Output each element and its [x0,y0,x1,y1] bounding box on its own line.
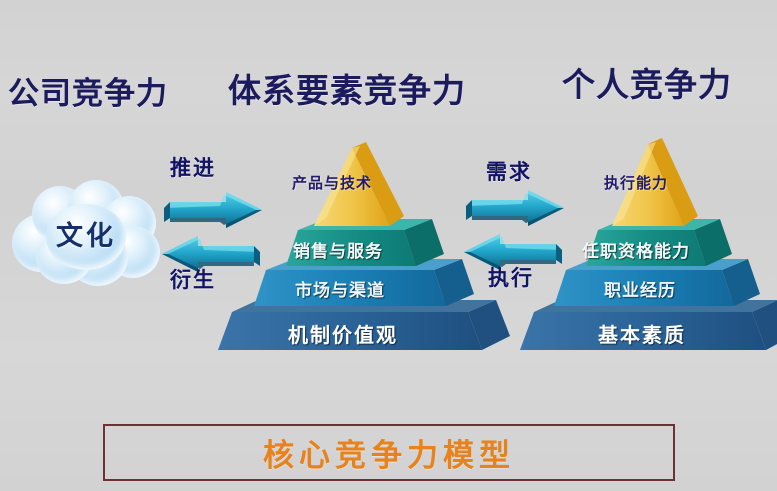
culture-cloud: 文化 [6,178,166,288]
banner-title: 核心竞争力模型 [263,430,515,475]
culture-label: 文化 [6,178,166,288]
pyramid-system-competitiveness: 产品与技术 销售与服务 市场与渠道 机制价值观 [210,140,510,365]
heading-personal-competitiveness: 个人竞争力 [562,58,732,106]
diagram-canvas: 公司竞争力 体系要素竞争力 个人竞争力 文化 [0,0,777,491]
core-competitiveness-model-banner: 核心竞争力模型 [103,424,675,481]
pyramid-personal-competitiveness: 执行能力 任职资格能力 职业经历 基本素质 [512,138,777,363]
heading-system-competitiveness: 体系要素竞争力 [228,64,466,112]
heading-company-competitiveness: 公司竞争力 [8,68,168,113]
